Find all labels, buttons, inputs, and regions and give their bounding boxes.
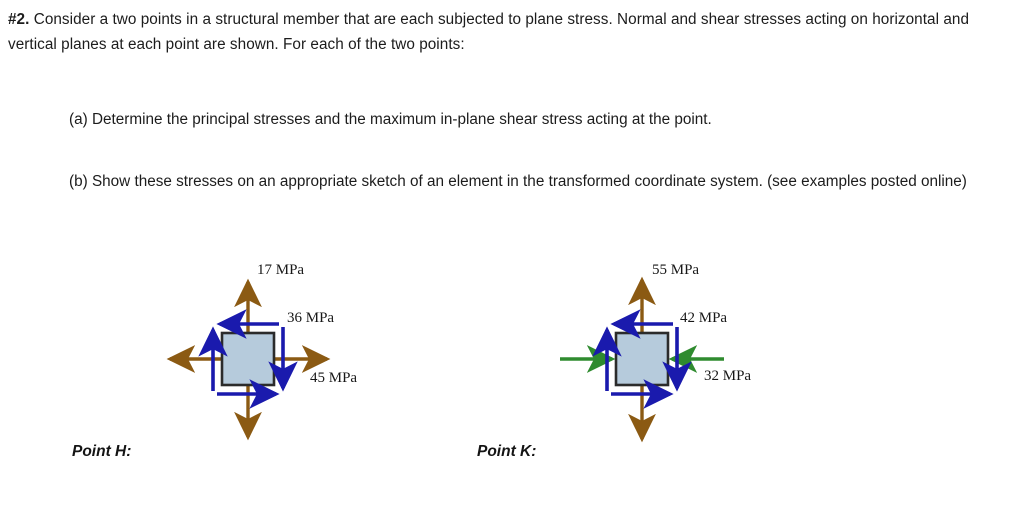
problem-number: #2. [8, 11, 29, 28]
stress-element-diagram-h [145, 252, 445, 467]
tau-value-label-k: 42 MPa [680, 310, 727, 327]
point-h-label: Point H: [72, 443, 131, 461]
sigma-y-value-label-k: 55 MPa [652, 262, 699, 279]
problem-statement-text: Consider a two points in a structural me… [8, 11, 969, 53]
stress-element-figure-point-h: 17 MPa 36 MPa 45 MPa [145, 252, 445, 467]
sigma-y-value-label-h: 17 MPa [257, 262, 304, 279]
sigma-x-value-label-h: 45 MPa [310, 370, 357, 387]
element-square-k [616, 333, 668, 385]
tau-value-label-h: 36 MPa [287, 310, 334, 327]
problem-part-a: (a) Determine the principal stresses and… [69, 108, 999, 132]
stress-element-diagram-k [552, 252, 852, 467]
element-square-h [222, 333, 274, 385]
problem-part-b: (b) Show these stresses on an appropriat… [69, 170, 999, 195]
problem-statement: #2. Consider a two points in a structura… [8, 8, 1008, 58]
point-k-label: Point K: [477, 443, 536, 461]
stress-element-figure-point-k: 55 MPa 42 MPa 32 MPa [552, 252, 852, 467]
sigma-x-value-label-k: 32 MPa [704, 368, 751, 385]
